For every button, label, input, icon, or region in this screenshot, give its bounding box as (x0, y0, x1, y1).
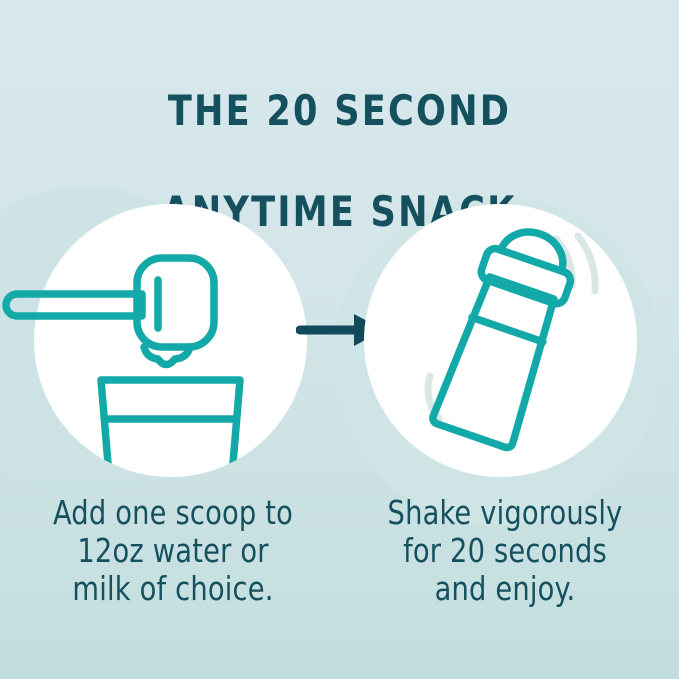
step-1 (34, 204, 307, 477)
title-line-1: THE 20 SECOND (24, 86, 655, 136)
step-2-caption-line-3: and enjoy. (353, 570, 657, 608)
step-2-caption: Shake vigorously for 20 seconds and enjo… (353, 494, 657, 608)
step-1-caption: Add one scoop to 12oz water or milk of c… (21, 494, 325, 608)
shaker-bottle-icon (364, 204, 637, 477)
scoop-handle-icon (34, 204, 307, 477)
step-1-caption-line-3: milk of choice. (21, 570, 325, 608)
step-1-caption-line-2: 12oz water or (21, 532, 325, 570)
infographic-root: THE 20 SECOND ANYTIME SNACK (0, 0, 679, 679)
step-1-scoop-handle-layer (34, 204, 307, 477)
step-2-caption-line-1: Shake vigorously (353, 494, 657, 532)
step-1-caption-line-1: Add one scoop to (21, 494, 325, 532)
bottle-body (429, 220, 582, 450)
step-2-caption-line-2: for 20 seconds (353, 532, 657, 570)
step-2-disc (364, 204, 637, 477)
step-2-artwork (364, 204, 637, 477)
step-2 (364, 204, 637, 477)
